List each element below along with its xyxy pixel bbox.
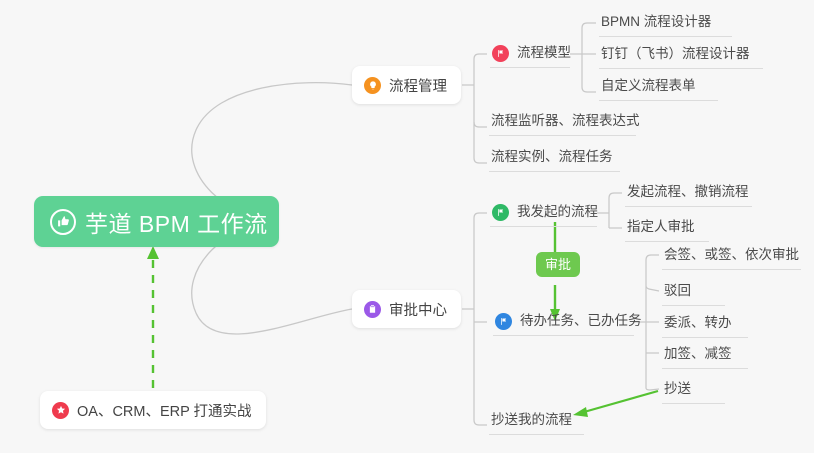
node-my-initiated[interactable]: 我发起的流程 — [490, 201, 597, 227]
node-label: 我发起的流程 — [517, 203, 598, 221]
node-todo-done-tasks[interactable]: 待办任务、已办任务 — [493, 310, 634, 336]
approval-badge: 审批 — [536, 252, 580, 277]
root-node[interactable]: 芋道 BPM 工作流 — [34, 196, 279, 247]
branch-label: 审批中心 — [389, 299, 447, 320]
node-cc-to-me[interactable]: 抄送我的流程 — [489, 409, 584, 435]
node-add-remove-sign[interactable]: 加签、减签 — [662, 343, 748, 369]
flag-circle-red-icon — [492, 45, 509, 62]
branch-process-management[interactable]: 流程管理 — [352, 66, 461, 104]
node-instance-task[interactable]: 流程实例、流程任务 — [489, 146, 620, 172]
node-reject[interactable]: 驳回 — [662, 280, 725, 306]
mindmap-canvas: 芋道 BPM 工作流 流程管理 流程模型 BPMN 流程设计器 钉钉（飞书）流程… — [0, 0, 814, 453]
node-label: 流程模型 — [517, 44, 571, 62]
node-countersign[interactable]: 会签、或签、依次审批 — [662, 244, 801, 270]
bottom-node-integration[interactable]: OA、CRM、ERP 打通实战 — [40, 391, 266, 429]
lightbulb-pin-icon — [364, 77, 381, 94]
node-label: 待办任务、已办任务 — [520, 312, 642, 330]
node-start-cancel[interactable]: 发起流程、撤销流程 — [625, 181, 752, 207]
node-custom-process-form[interactable]: 自定义流程表单 — [599, 75, 718, 101]
root-label: 芋道 BPM 工作流 — [85, 205, 268, 239]
node-process-model[interactable]: 流程模型 — [490, 42, 570, 68]
branch-label: 流程管理 — [389, 75, 447, 96]
thumbs-up-icon — [50, 209, 76, 235]
flag-circle-green-icon — [492, 204, 509, 221]
bottom-node-label: OA、CRM、ERP 打通实战 — [77, 400, 252, 421]
node-cc[interactable]: 抄送 — [662, 378, 725, 404]
node-bpmn-designer[interactable]: BPMN 流程设计器 — [599, 11, 732, 37]
node-assignee-approval[interactable]: 指定人审批 — [625, 216, 709, 242]
branch-approval-center[interactable]: 审批中心 — [352, 290, 461, 328]
star-circle-red-icon — [52, 402, 69, 419]
node-listener-expression[interactable]: 流程监听器、流程表达式 — [489, 110, 636, 136]
node-dingtalk-feishu-designer[interactable]: 钉钉（飞书）流程设计器 — [599, 43, 763, 69]
flag-circle-blue-icon — [495, 313, 512, 330]
clipboard-circle-purple-icon — [364, 301, 381, 318]
node-delegate-transfer[interactable]: 委派、转办 — [662, 312, 748, 338]
